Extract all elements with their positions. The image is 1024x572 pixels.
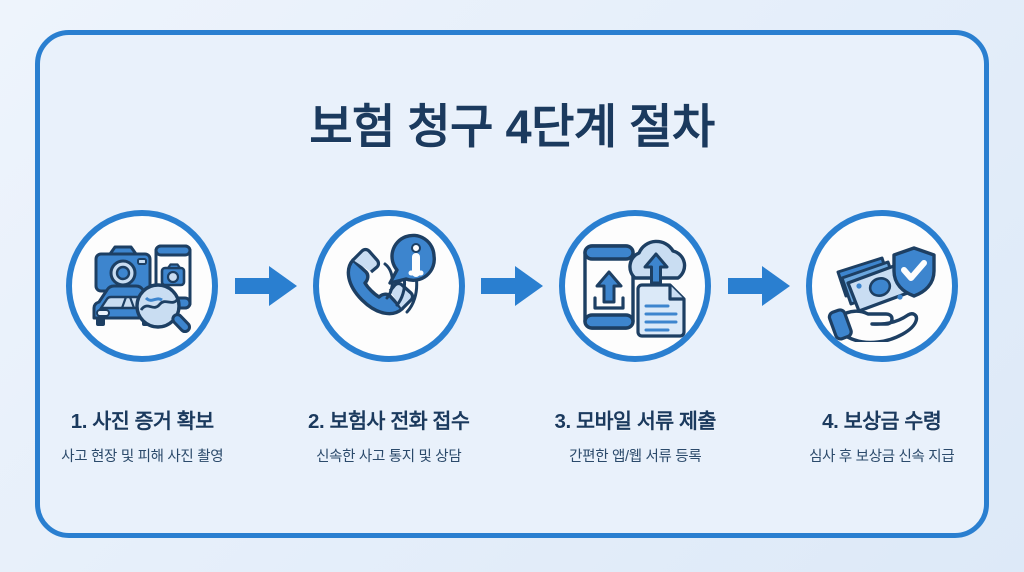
step-4-icon-circle[interactable] xyxy=(806,210,958,362)
step-3[interactable]: 3. 모바일 서류 제출 간편한 앱/웹 서류 등록 xyxy=(551,210,720,466)
page-title: 보험 청구 4단계 절차 xyxy=(40,101,984,153)
step-3-icon-circle[interactable] xyxy=(559,210,711,362)
step-1[interactable]: 1. 사진 증거 확보 사고 현장 및 피해 사진 촬영 xyxy=(58,210,227,466)
step-1-title: 1. 사진 증거 확보 xyxy=(71,404,214,434)
step-2-desc: 신속한 사고 통지 및 상담 xyxy=(316,445,461,466)
step-4-title: 4. 보상금 수령 xyxy=(822,404,941,434)
phone-cloud-upload-document-icon xyxy=(579,230,691,342)
connector-arrow-3 xyxy=(720,210,798,362)
step-2[interactable]: 2. 보험사 전화 접수 신속한 사고 통지 및 상담 xyxy=(305,210,474,466)
step-3-desc: 간편한 앱/웹 서류 등록 xyxy=(569,445,701,466)
steps-row: 1. 사진 증거 확보 사고 현장 및 피해 사진 촬영 xyxy=(58,210,966,466)
arrow-right-icon xyxy=(481,262,543,310)
content-frame: 보험 청구 4단계 절차 xyxy=(35,30,989,538)
step-2-title: 2. 보험사 전화 접수 xyxy=(308,404,469,434)
step-2-icon-circle[interactable] xyxy=(313,210,465,362)
connector-arrow-1 xyxy=(227,210,305,362)
infographic-page: 보험 청구 4단계 절차 xyxy=(0,0,1024,572)
arrow-right-icon xyxy=(235,262,297,310)
step-1-desc: 사고 현장 및 피해 사진 촬영 xyxy=(61,445,223,466)
step-3-title: 3. 모바일 서류 제출 xyxy=(555,404,716,434)
hand-cash-shield-check-icon xyxy=(826,230,938,342)
step-4-desc: 심사 후 보상금 신속 지급 xyxy=(809,445,954,466)
step-4[interactable]: 4. 보상금 수령 심사 후 보상금 신속 지급 xyxy=(798,210,967,466)
connector-arrow-2 xyxy=(473,210,551,362)
telephone-info-bubble-icon xyxy=(333,230,445,342)
step-1-icon-circle[interactable] xyxy=(66,210,218,362)
camera-phone-car-magnifier-icon xyxy=(86,230,198,342)
arrow-right-icon xyxy=(728,262,790,310)
